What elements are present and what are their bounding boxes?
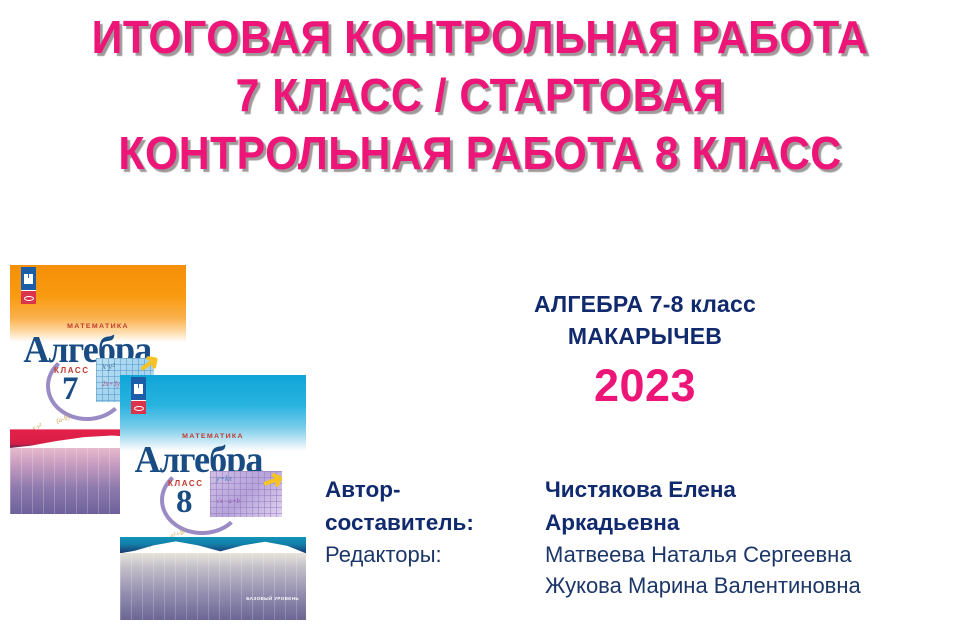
cover-klass-number: 7 <box>62 371 79 408</box>
subject-line-2: МАКАРЫЧЕВ <box>330 320 960 352</box>
cover-swoosh <box>160 465 244 535</box>
editor-name-2: Жукова Марина Валентиновна <box>545 570 960 601</box>
title-line-2: 7 КЛАСС / СТАРТОВАЯ <box>34 66 927 124</box>
title-line-1: ИТОГОВАЯ КОНТРОЛЬНАЯ РАБОТА <box>34 8 927 66</box>
author-value-line-1: Чистякова Елена <box>545 473 960 506</box>
cover-bottom-graphic: БАЗОВЫЙ УРОВЕНЬ <box>120 537 306 620</box>
cover-doodle-2: (a-b) <box>55 413 71 425</box>
credit-row-editor-1: Редакторы: Матвеева Наталья Сергеевна <box>325 539 960 570</box>
author-label-line-2: составитель: <box>325 506 545 539</box>
credit-row-author-2: составитель: Аркадьевна <box>325 506 960 539</box>
cover-level-tag: БАЗОВЫЙ УРОВЕНЬ <box>246 596 299 602</box>
cover-klass-number: 8 <box>176 484 193 521</box>
page-title: ИТОГОВАЯ КОНТРОЛЬНАЯ РАБОТА 7 КЛАСС / СТ… <box>0 8 960 182</box>
editors-label: Редакторы: <box>325 539 545 570</box>
author-value-line-2: Аркадьевна <box>545 506 960 539</box>
title-line-3: КОНТРОЛЬНАЯ РАБОТА 8 КЛАСС <box>34 124 927 182</box>
cover-swoosh <box>46 351 128 421</box>
publisher-logo-icon <box>131 377 146 414</box>
editor-name-1: Матвеева Наталья Сергеевна <box>545 539 960 570</box>
publisher-logo-icon <box>21 267 36 304</box>
subject-line-1: АЛГЕБРА 7-8 класс <box>330 288 960 320</box>
credit-row-author-1: Автор- Чистякова Елена <box>325 473 960 506</box>
credit-row-editor-2: Жукова Марина Валентиновна <box>325 570 960 601</box>
credits-block: Автор- Чистякова Елена составитель: Арка… <box>325 473 960 601</box>
author-label-line-1: Автор- <box>325 473 545 506</box>
subject-info: АЛГЕБРА 7-8 класс МАКАРЫЧЕВ 2023 <box>330 288 960 412</box>
year-label: 2023 <box>330 360 960 412</box>
book-cover-algebra-8: МАТЕМАТИКА Алгебра y=kx √x · a+b ➜ КЛАСС… <box>120 375 306 620</box>
